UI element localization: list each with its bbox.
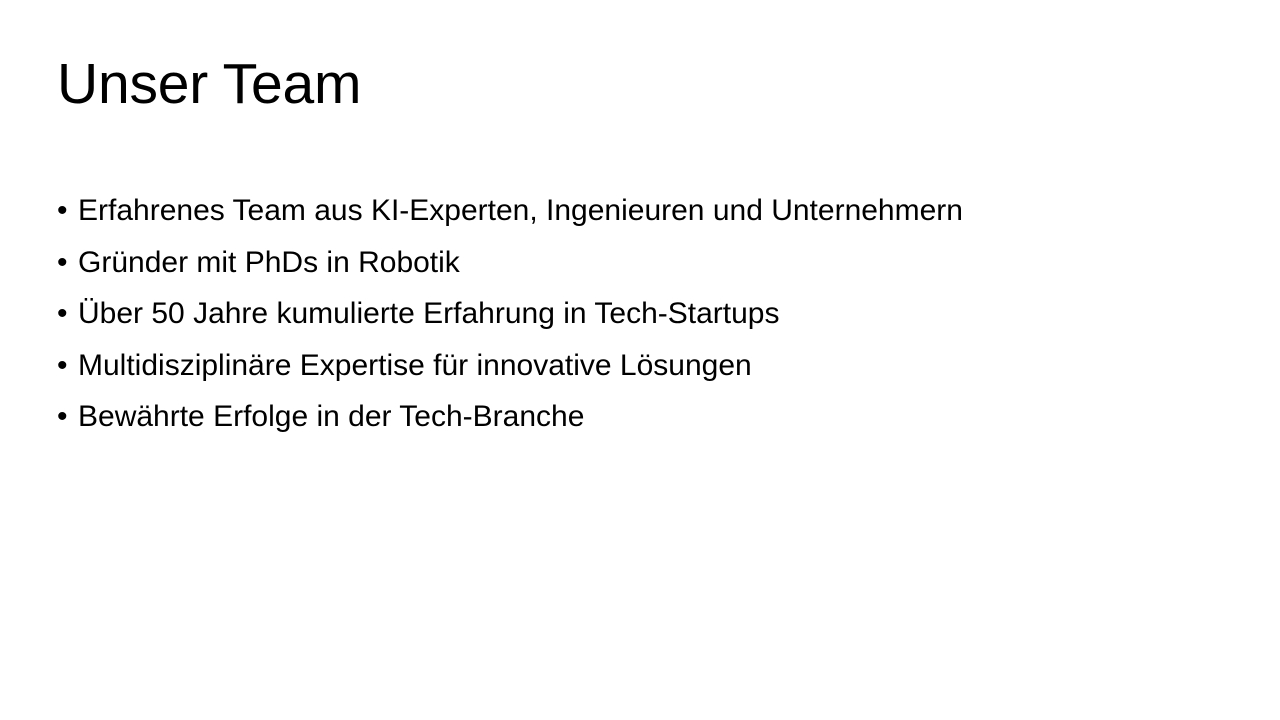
bullet-dot-icon: • xyxy=(57,185,78,237)
list-item-label: Über 50 Jahre kumulierte Erfahrung in Te… xyxy=(78,297,779,330)
presentation-slide: Unser Team • Erfahrenes Team aus KI-Expe… xyxy=(0,0,1280,720)
list-item-label: Bewährte Erfolge in der Tech-Branche xyxy=(78,400,584,433)
page-title: Unser Team xyxy=(57,48,1223,120)
bullet-dot-icon: • xyxy=(57,391,78,443)
list-item: • Multidisziplinäre Expertise für innova… xyxy=(57,340,1227,392)
bullet-dot-icon: • xyxy=(57,340,78,392)
bullet-list: • Erfahrenes Team aus KI-Experten, Ingen… xyxy=(57,185,1227,443)
list-item: • Gründer mit PhDs in Robotik xyxy=(57,237,1227,289)
list-item-label: Multidisziplinäre Expertise für innovati… xyxy=(78,349,752,382)
bullet-dot-icon: • xyxy=(57,288,78,340)
list-item: • Über 50 Jahre kumulierte Erfahrung in … xyxy=(57,288,1227,340)
list-item-label: Erfahrenes Team aus KI-Experten, Ingenie… xyxy=(78,194,963,227)
list-item-label: Gründer mit PhDs in Robotik xyxy=(78,246,460,279)
list-item: • Erfahrenes Team aus KI-Experten, Ingen… xyxy=(57,185,1227,237)
bullet-dot-icon: • xyxy=(57,237,78,289)
list-item: • Bewährte Erfolge in der Tech-Branche xyxy=(57,391,1227,443)
